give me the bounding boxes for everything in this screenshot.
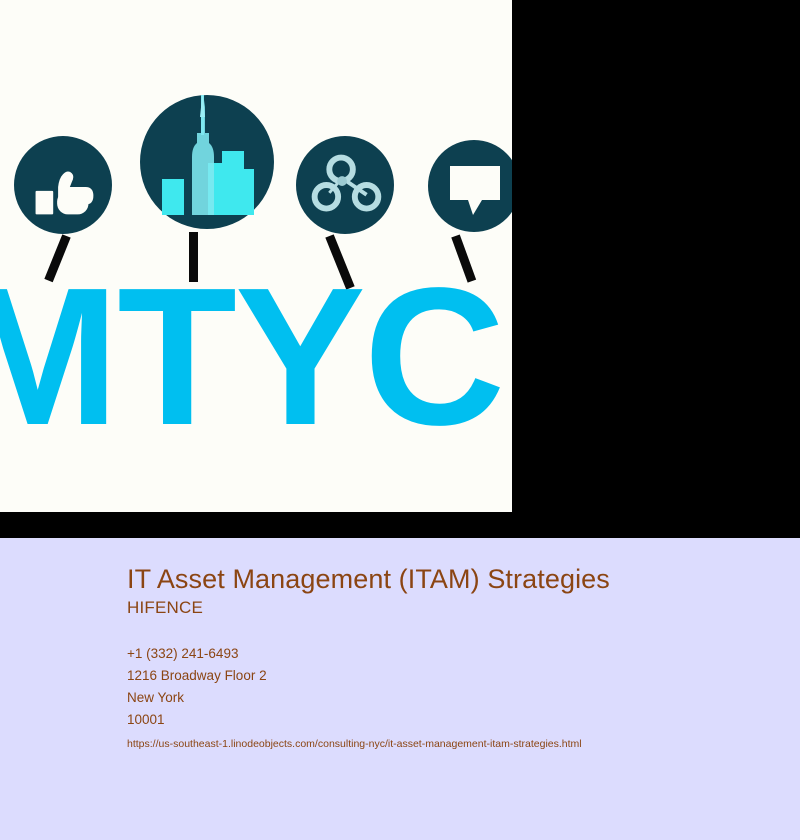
page-title: IT Asset Management (ITAM) Strategies — [127, 564, 760, 594]
contact-postal-code: 10001 — [127, 709, 760, 731]
contact-block: +1 (332) 241-6493 1216 Broadway Floor 2 … — [127, 643, 760, 730]
icon-bubble-thumbs-up — [14, 136, 112, 234]
hero-band: MTYC — [0, 0, 800, 538]
thumbs-up-icon — [14, 136, 112, 234]
chat-bubble-icon — [428, 140, 512, 232]
contact-street: 1216 Broadway Floor 2 — [127, 665, 760, 687]
hero-wordmark: MTYC — [0, 262, 512, 452]
icon-bubble-network-nodes — [296, 136, 394, 234]
hero-illustration: MTYC — [0, 0, 512, 512]
icon-bubble-city-skyline — [140, 95, 274, 229]
brand-name: HIFENCE — [127, 598, 760, 618]
network-nodes-icon — [296, 136, 394, 234]
contact-city: New York — [127, 687, 760, 709]
contact-phone[interactable]: +1 (332) 241-6493 — [127, 643, 760, 665]
icon-bubble-chat — [428, 140, 512, 232]
source-url-link[interactable]: https://us-southeast-1.linodeobjects.com… — [127, 738, 760, 750]
page-root: MTYC IT Asset Management (ITAM) Strategi… — [0, 0, 800, 840]
city-skyline-icon — [140, 95, 274, 229]
info-panel: IT Asset Management (ITAM) Strategies HI… — [0, 538, 800, 840]
